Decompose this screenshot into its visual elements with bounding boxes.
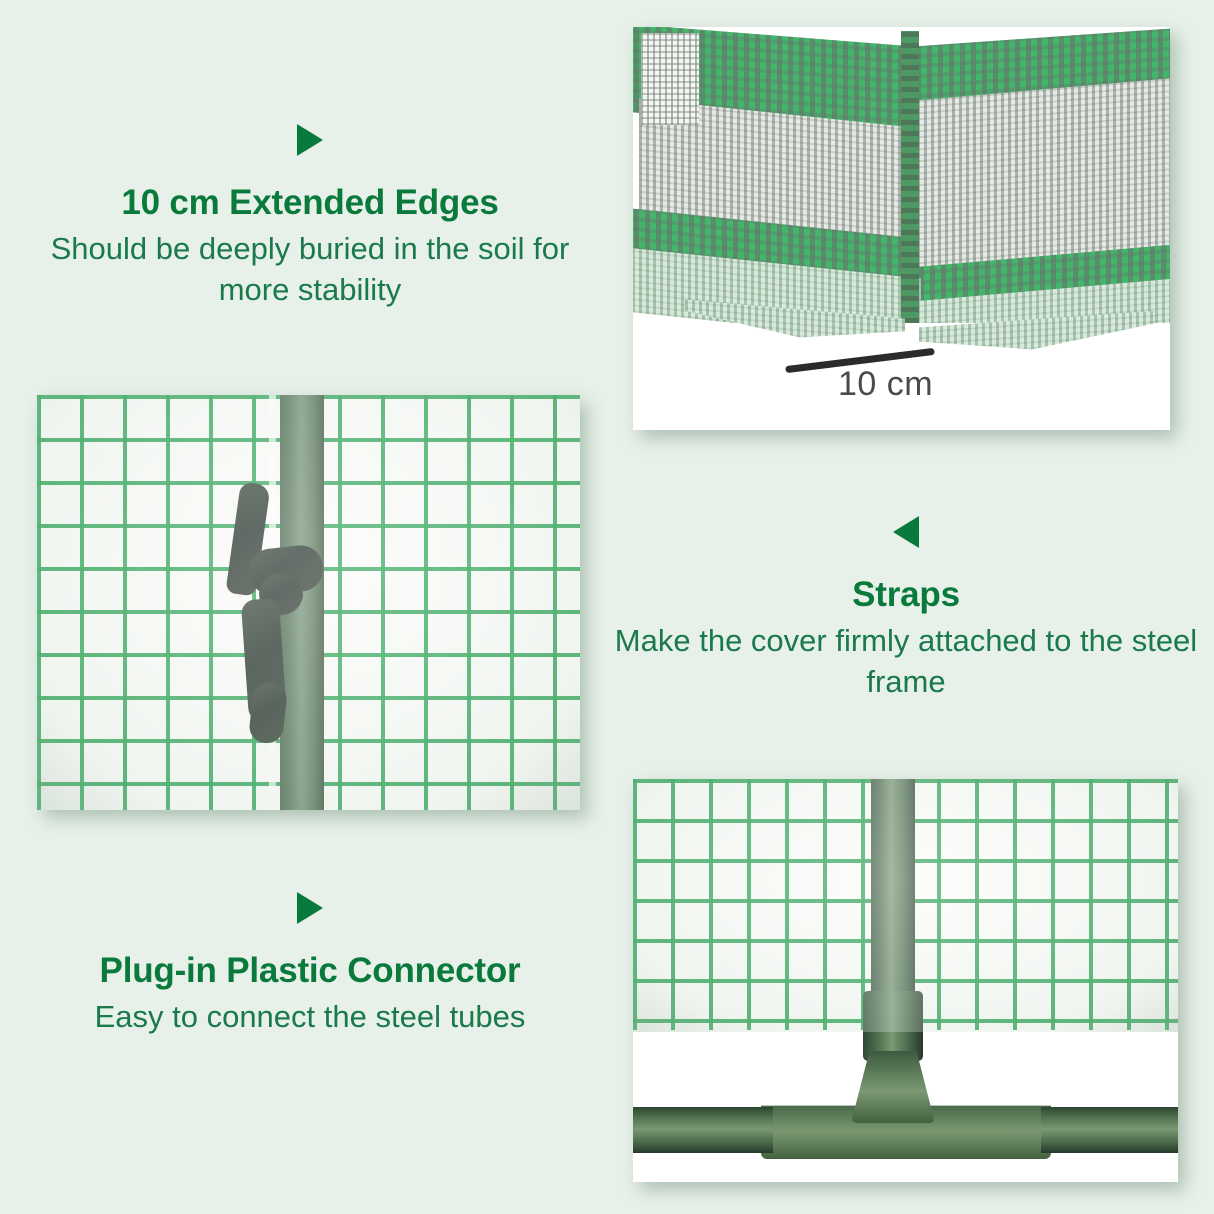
triangle-right-icon bbox=[297, 124, 323, 156]
greenhouse-corner-photo: 10 cm bbox=[633, 27, 1170, 430]
feature-title: Straps bbox=[598, 574, 1214, 615]
triangle-left-icon bbox=[893, 516, 919, 548]
infographic-canvas: 10 cm Extended Edges Should be deeply bu… bbox=[0, 0, 1214, 1214]
horizontal-tube-left bbox=[633, 1107, 773, 1153]
horizontal-tube-right bbox=[1041, 1107, 1178, 1153]
feature-subtitle: Easy to connect the steel tubes bbox=[0, 997, 620, 1038]
t-connector-photo bbox=[633, 779, 1178, 1182]
connector-collar bbox=[863, 991, 923, 1061]
feature-title: 10 cm Extended Edges bbox=[0, 182, 620, 223]
corner-post bbox=[901, 31, 919, 323]
feature-block-extended-edges: 10 cm Extended Edges Should be deeply bu… bbox=[0, 124, 620, 311]
triangle-right-icon bbox=[297, 892, 323, 924]
strap-tied-to-pole-photo bbox=[37, 395, 580, 810]
dimension-label: 10 cm bbox=[838, 365, 933, 404]
feature-title: Plug-in Plastic Connector bbox=[0, 950, 620, 991]
feature-block-straps: Straps Make the cover firmly attached to… bbox=[598, 516, 1214, 703]
feature-block-connector: Plug-in Plastic Connector Easy to connec… bbox=[0, 892, 620, 1038]
feature-subtitle: Make the cover firmly attached to the st… bbox=[598, 621, 1214, 703]
greenhouse-corner-scene: 10 cm bbox=[633, 27, 1170, 430]
mesh-window bbox=[641, 33, 699, 125]
feature-subtitle: Should be deeply buried in the soil for … bbox=[0, 229, 620, 311]
